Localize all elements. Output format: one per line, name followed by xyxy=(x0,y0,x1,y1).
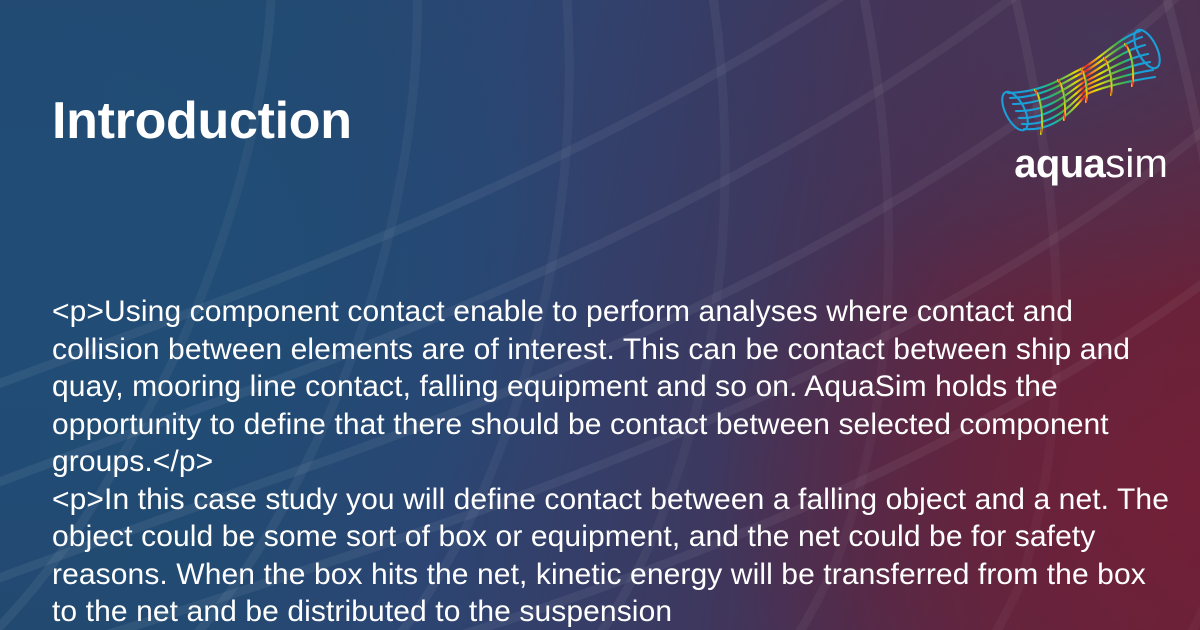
brand-wordmark-light: sim xyxy=(1105,142,1168,186)
paragraph-1: <p>Using component contact enable to per… xyxy=(52,293,1170,481)
paragraph-2: <p>In this case study you will define co… xyxy=(52,481,1170,630)
body-copy: <p>Using component contact enable to per… xyxy=(52,293,1170,630)
brand-logo: aquasim xyxy=(980,16,1170,186)
brand-wordmark-bold: aqua xyxy=(1014,142,1105,186)
page-title: Introduction xyxy=(52,93,352,150)
hyperboloid-net-mesh-icon xyxy=(992,16,1170,144)
brand-wordmark: aquasim xyxy=(980,142,1170,186)
slide-canvas: Introduction xyxy=(0,0,1200,630)
